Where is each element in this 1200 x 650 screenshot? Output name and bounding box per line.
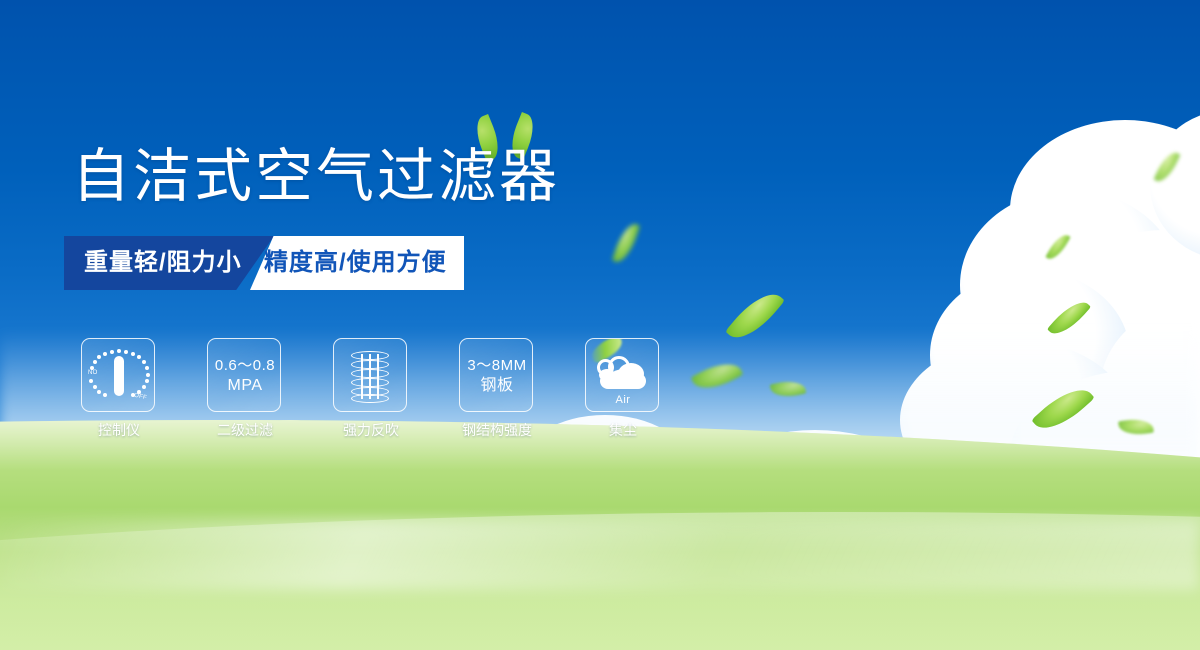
steel-plate-label: 钢板: [480, 376, 513, 396]
page-title: 自洁式空气过滤器: [72, 141, 560, 213]
feature-item-steel-strength[interactable]: 3～8MM 钢板 钢结构强度: [459, 338, 535, 412]
pressure-text-icon: 0.6～0.8 MPA: [208, 339, 281, 412]
feature-tile-steel-strength: 3～8MM 钢板: [459, 338, 533, 412]
feature-label-two-stage-filter: 二级过滤: [217, 420, 273, 440]
feature-label-steel-strength: 钢结构强度: [462, 420, 532, 440]
steel-plate-text-icon: 3～8MM 钢板: [460, 339, 533, 412]
feature-item-dust-collection[interactable]: Air 集尘: [585, 338, 661, 412]
tagline-badge: 重量轻/阻力小 精度高/使用方便: [64, 236, 464, 290]
feature-item-two-stage-filter[interactable]: 0.6～0.8 MPA 二级过滤: [207, 338, 283, 412]
air-cloud-icon: Air: [586, 339, 659, 412]
feature-label-dust-collection: 集尘: [609, 420, 637, 440]
feature-tile-dust-collection: Air: [585, 338, 659, 412]
gauge-no-label: NO: [88, 370, 98, 376]
pressure-unit: MPA: [228, 376, 263, 396]
gauge-icon: NO OFF: [82, 339, 155, 412]
tagline-left-text: 重量轻/阻力小: [84, 248, 242, 278]
air-text-label: Air: [586, 394, 659, 406]
feature-label-reverse-blow: 强力反吹: [343, 420, 399, 440]
feature-item-controller[interactable]: NO OFF 控制仪: [81, 338, 157, 412]
feature-item-reverse-blow[interactable]: 强力反吹: [333, 338, 409, 412]
feature-tile-reverse-blow: [333, 338, 407, 412]
feature-label-controller: 控制仪: [98, 420, 140, 440]
product-hero-banner: 自洁式空气过滤器 重量轻/阻力小 精度高/使用方便: [0, 0, 1200, 650]
pressure-value: 0.6～0.8: [215, 356, 275, 376]
coil-icon: [351, 351, 389, 401]
gauge-off-label: OFF: [134, 393, 148, 402]
feature-tile-controller: NO OFF: [81, 338, 155, 412]
steel-thickness: 3～8MM: [467, 356, 526, 376]
feature-tile-two-stage-filter: 0.6～0.8 MPA: [207, 338, 281, 412]
tagline-right-text: 精度高/使用方便: [264, 248, 447, 278]
